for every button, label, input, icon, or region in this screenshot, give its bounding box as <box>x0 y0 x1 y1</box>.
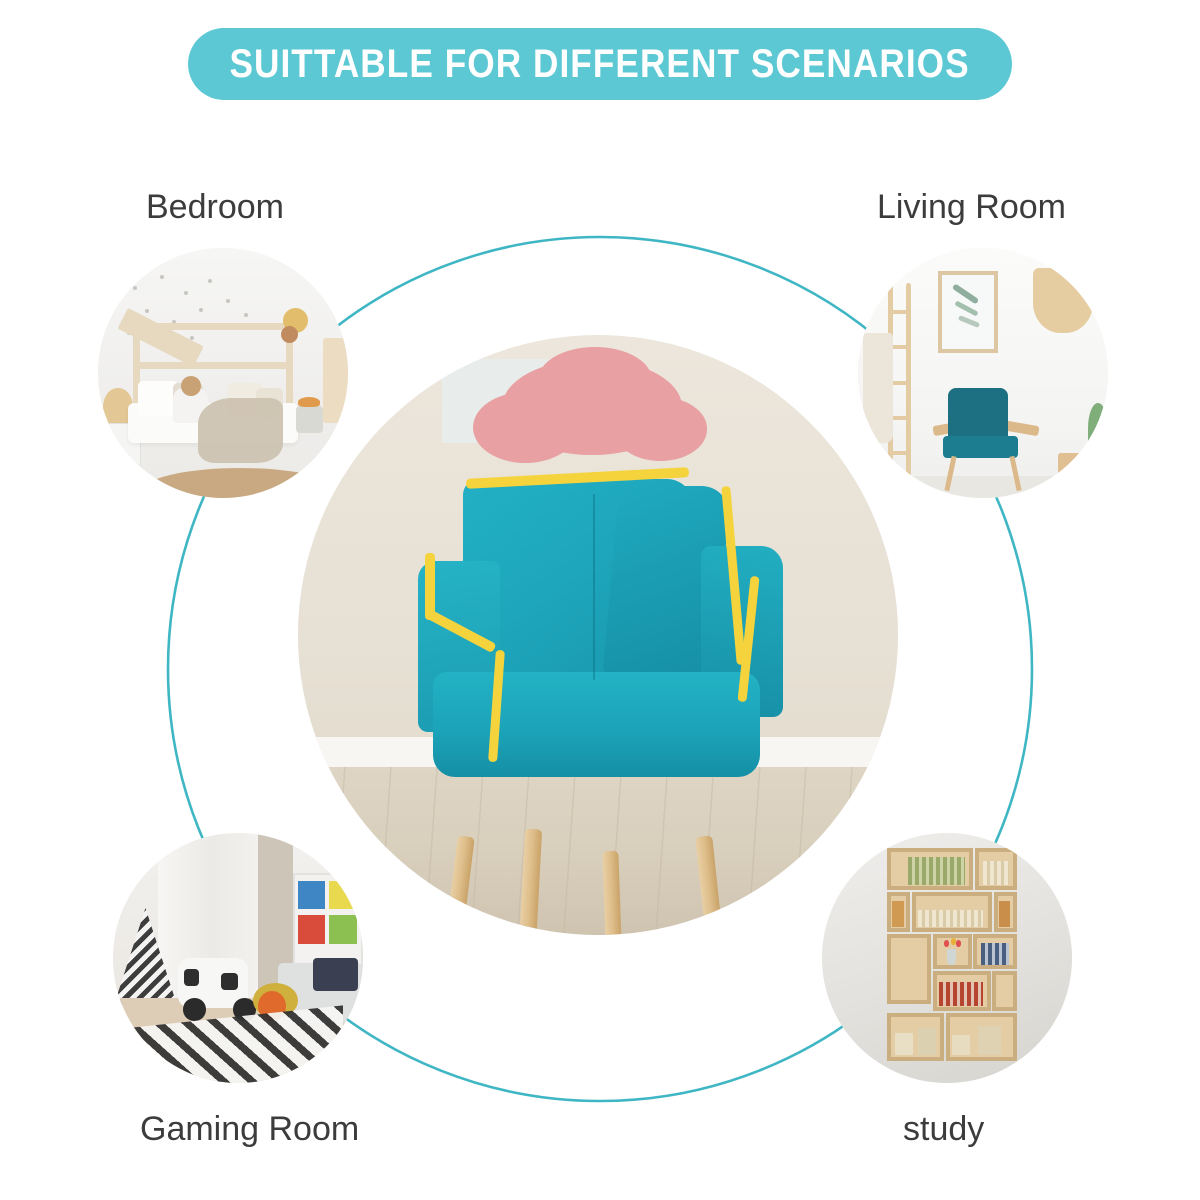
cloud-pillow-top-lump <box>538 347 652 413</box>
infographic-page: SUITTABLE FOR DIFFERENT SCENARIOS <box>0 0 1200 1200</box>
botanical-artwork <box>938 271 998 354</box>
knitted-throw <box>198 398 283 463</box>
banner-title: SUITTABLE FOR DIFFERENT SCENARIOS <box>230 42 970 87</box>
wood-slice-stool <box>101 486 141 499</box>
scenario-label-study: study <box>903 1110 984 1149</box>
child-head <box>181 376 201 396</box>
toy-wheel <box>183 998 206 1021</box>
teal-armchair-back <box>948 388 1008 443</box>
side-stool <box>1058 453 1103 478</box>
potted-plant <box>1088 403 1108 453</box>
header-banner: SUITTABLE FOR DIFFERENT SCENARIOS <box>188 28 1012 100</box>
rattan-pendant-lamp <box>1033 268 1093 333</box>
product-scene <box>298 335 898 935</box>
chair-backrest-seam <box>593 494 595 680</box>
scenario-label-living-room: Living Room <box>877 188 1066 227</box>
scenario-label-gaming-room: Gaming Room <box>140 1110 359 1149</box>
product-armchair <box>418 479 790 851</box>
pillow <box>138 381 178 416</box>
sofa-cushion <box>313 958 358 991</box>
modular-bookshelf <box>887 848 1017 1068</box>
chair-seat-cushion <box>433 672 760 776</box>
scenario-label-bedroom: Bedroom <box>146 188 284 227</box>
pompom-decor <box>281 326 299 344</box>
teal-armchair-seat <box>943 436 1018 459</box>
main-product-photo[interactable] <box>298 335 898 935</box>
